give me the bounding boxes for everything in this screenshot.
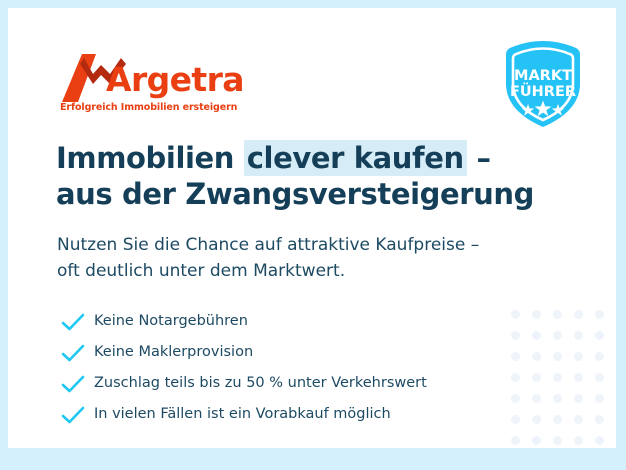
decorative-dot [568,388,589,409]
list-item: Zuschlag teils bis zu 50 % unter Verkehr… [60,368,427,399]
decorative-dot [589,430,610,448]
decorative-dot [547,367,568,388]
decorative-dot [589,409,610,430]
decorative-dot [589,367,610,388]
decorative-dot [526,430,547,448]
decorative-dot [505,304,526,325]
markt-fuehrer-badge: MARKT FÜHRER [497,38,589,130]
list-item-label: Keine Maklerprovision [86,345,253,360]
decorative-dot [526,325,547,346]
check-icon [60,312,86,332]
decorative-dot [505,367,526,388]
headline-line-1: Immobilien clever kaufen – [56,141,534,177]
decorative-dot [568,430,589,448]
check-icon [60,374,86,394]
decorative-dot [568,367,589,388]
list-item: Keine Notargebühren [60,306,427,337]
decorative-dot [589,346,610,367]
subheadline-line-2: oft deutlich unter dem Marktwert. [57,258,479,284]
decorative-dot [589,388,610,409]
benefit-list: Keine Notargebühren Keine Maklerprovisio… [60,306,427,430]
list-item-label: Zuschlag teils bis zu 50 % unter Verkehr… [86,376,427,391]
argetra-logo[interactable]: Argetra Erfolgreich Immobilien ersteiger… [60,52,260,120]
dot-grid-decoration [505,304,610,448]
check-icon [60,405,86,425]
decorative-dot [547,325,568,346]
headline-pre: Immobilien [56,141,244,175]
headline-line-2: aus der Zwangsversteigerung [56,177,534,213]
logo-row: Argetra [60,52,260,102]
logo-tagline: Erfolgreich Immobilien ersteigern [60,102,237,113]
decorative-dot [526,409,547,430]
decorative-dot [526,304,547,325]
decorative-dot [526,388,547,409]
shield-badge-icon: MARKT FÜHRER [497,38,589,130]
decorative-dot [505,346,526,367]
decorative-dot [568,346,589,367]
decorative-dot [505,409,526,430]
subheadline-line-1: Nutzen Sie die Chance auf attraktive Kau… [57,232,479,258]
decorative-dot [547,304,568,325]
list-item-label: Keine Notargebühren [86,314,248,329]
badge-line2: FÜHRER [510,82,576,100]
headline: Immobilien clever kaufen – aus der Zwang… [56,141,534,213]
decorative-dot [589,325,610,346]
decorative-dot [589,304,610,325]
headline-post: – [467,141,491,175]
banner-card: Argetra Erfolgreich Immobilien ersteiger… [8,8,616,448]
decorative-dot [505,325,526,346]
check-icon [60,343,86,363]
decorative-dot [526,367,547,388]
list-item: Keine Maklerprovision [60,337,427,368]
decorative-dot [547,346,568,367]
banner-frame: Argetra Erfolgreich Immobilien ersteiger… [0,0,626,470]
decorative-dot [526,346,547,367]
list-item: In vielen Fällen ist ein Vorabkauf mögli… [60,399,427,430]
list-item-label: In vielen Fällen ist ein Vorabkauf mögli… [86,407,391,422]
decorative-dot [547,430,568,448]
decorative-dot [568,409,589,430]
decorative-dot [568,304,589,325]
logo-wordmark: Argetra [106,63,244,96]
decorative-dot [505,388,526,409]
headline-highlight: clever kaufen [244,140,467,176]
decorative-dot [547,409,568,430]
subheadline: Nutzen Sie die Chance auf attraktive Kau… [57,232,479,285]
badge-line1: MARKT [514,68,572,84]
decorative-dot [505,430,526,448]
decorative-dot [568,325,589,346]
decorative-dot [547,388,568,409]
